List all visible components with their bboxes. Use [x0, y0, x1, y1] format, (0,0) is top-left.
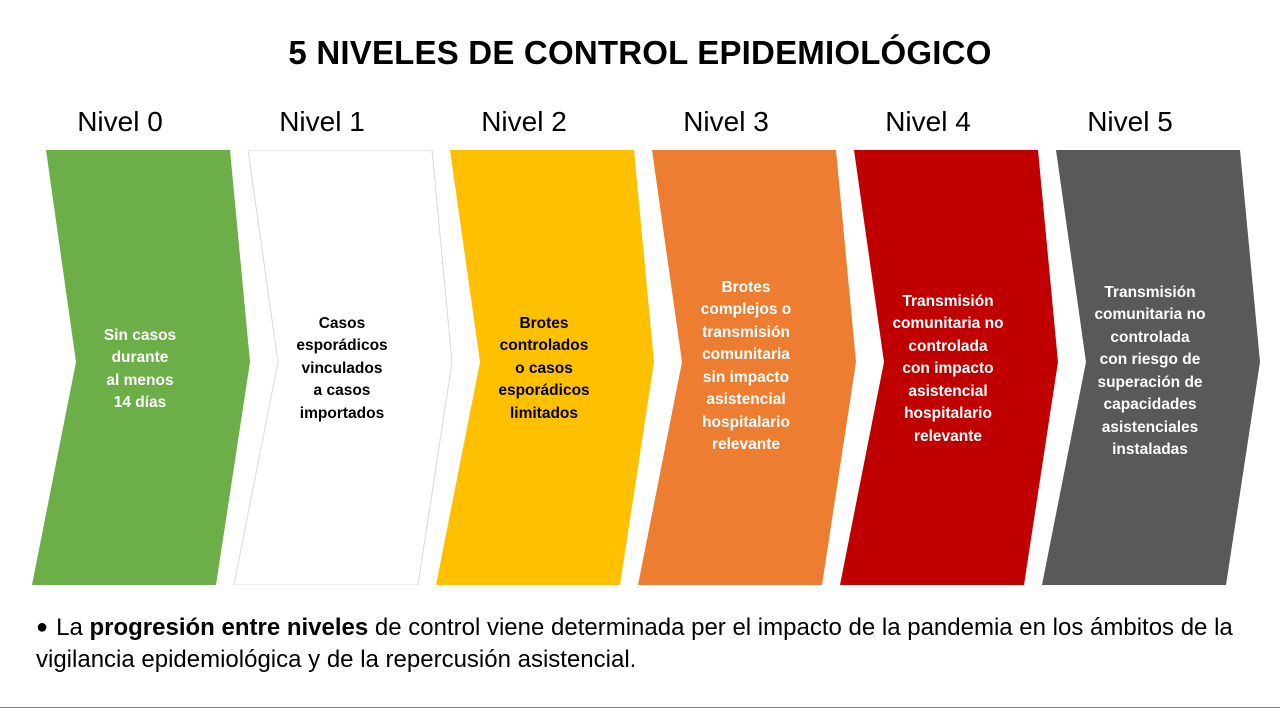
bottom-divider	[0, 707, 1280, 708]
level-label-row: Nivel 0Nivel 1Nivel 2Nivel 3Nivel 4Nivel…	[0, 106, 1280, 146]
footer-note: ●La progresión entre niveles de control …	[36, 612, 1248, 677]
level-label-1: Nivel 1	[222, 106, 422, 138]
chevron-band: Sin casos durante al menos 14 díasCasos …	[0, 150, 1280, 590]
level-label-0: Nivel 0	[20, 106, 220, 138]
level-label-5: Nivel 5	[1030, 106, 1230, 138]
bullet-icon: ●	[36, 617, 48, 637]
chevron-level-5[interactable]: Transmisión comunitaria no controlada co…	[1030, 150, 1270, 585]
chevron-shape-5	[1030, 150, 1270, 585]
footer-note-emphasis: progresión entre niveles	[89, 614, 368, 641]
page-title: 5 NIVELES DE CONTROL EPIDEMIOLÓGICO	[0, 34, 1280, 72]
footer-note-lead: La	[56, 614, 89, 641]
level-label-4: Nivel 4	[828, 106, 1028, 138]
level-label-2: Nivel 2	[424, 106, 624, 138]
level-label-3: Nivel 3	[626, 106, 826, 138]
